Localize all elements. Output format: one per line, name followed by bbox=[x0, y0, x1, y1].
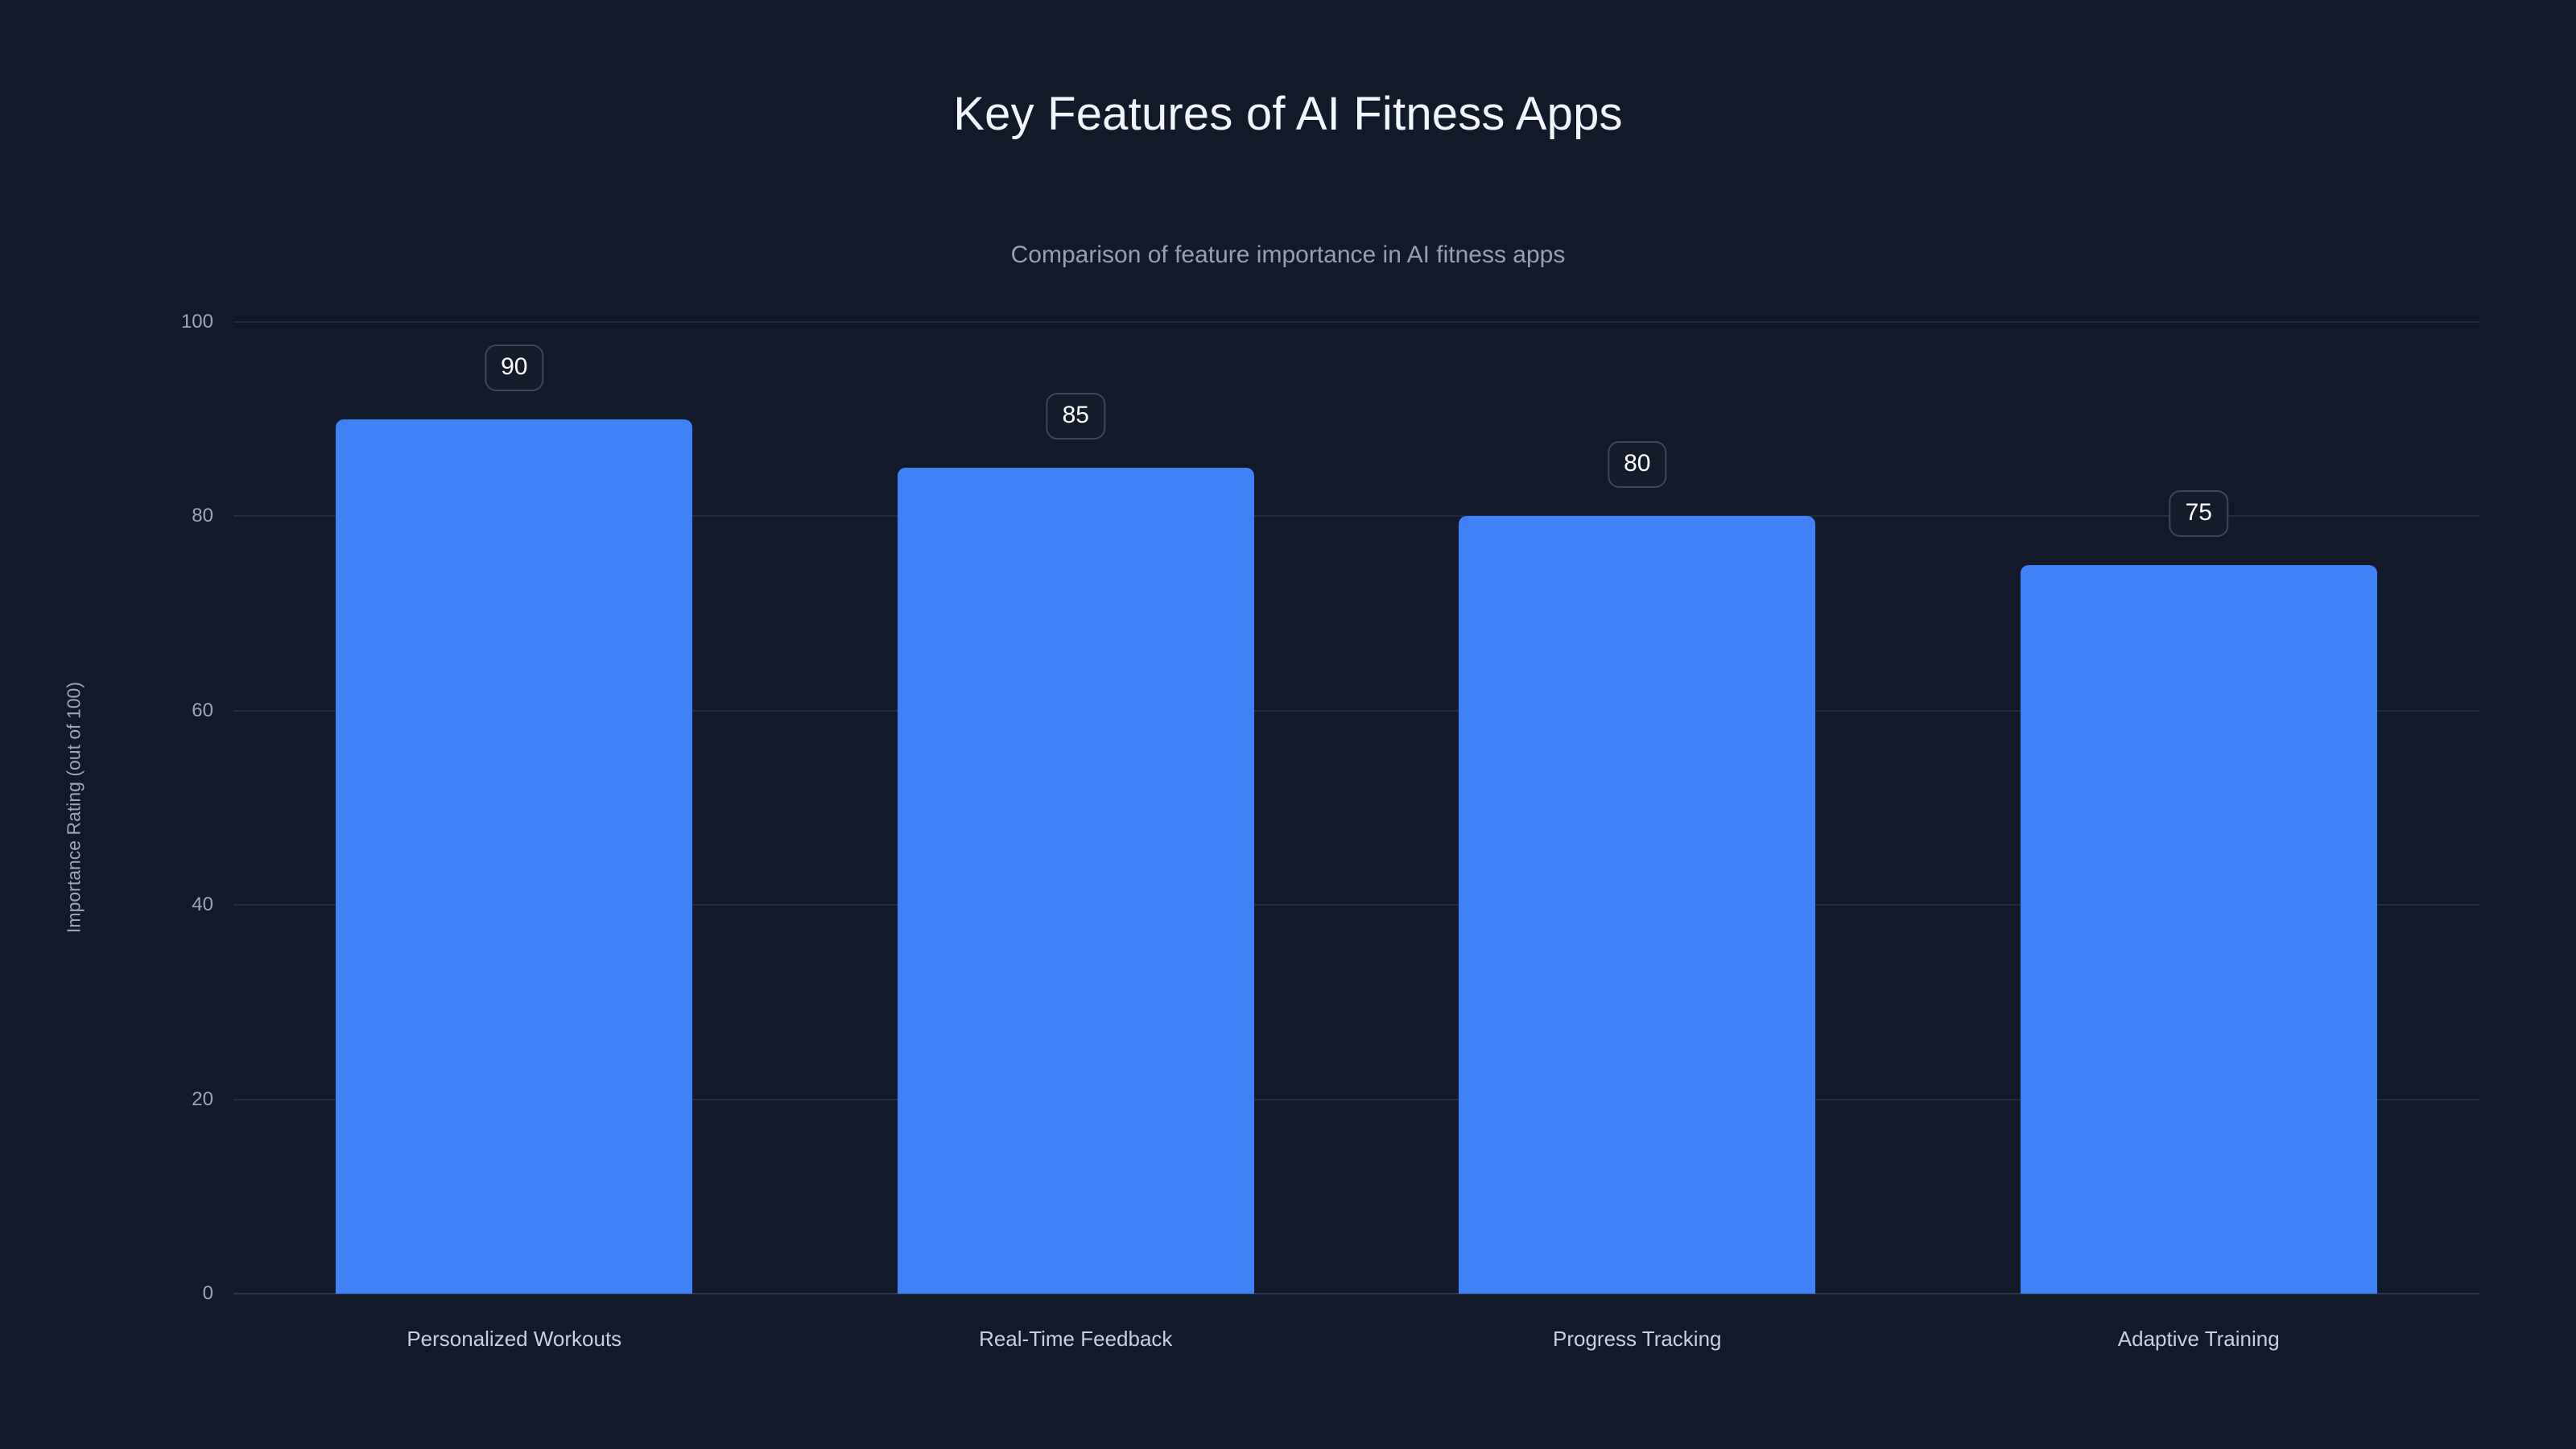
x-axis-category-label: Progress Tracking bbox=[1553, 1327, 1722, 1352]
y-axis-tick-label: 20 bbox=[117, 1088, 213, 1111]
y-axis-tick-label: 100 bbox=[117, 311, 213, 333]
bar[interactable] bbox=[1459, 516, 1815, 1294]
bar[interactable] bbox=[2021, 565, 2377, 1294]
chart-subtitle: Comparison of feature importance in AI f… bbox=[0, 242, 2576, 268]
x-axis-category-label: Adaptive Training bbox=[2118, 1327, 2280, 1352]
bar-chart-figure: Key Features of AI Fitness Apps Comparis… bbox=[0, 0, 2576, 1449]
x-axis-category-label: Personalized Workouts bbox=[407, 1327, 621, 1352]
bar-value-label: 85 bbox=[1046, 393, 1105, 440]
y-axis-tick-label: 60 bbox=[117, 700, 213, 722]
chart-title: Key Features of AI Fitness Apps bbox=[0, 89, 2576, 140]
bar-value-label: 75 bbox=[2169, 490, 2228, 537]
bar-value-label: 90 bbox=[485, 345, 543, 391]
x-axis-category-label: Real-Time Feedback bbox=[979, 1327, 1172, 1352]
y-axis-tick-label: 80 bbox=[117, 505, 213, 527]
y-axis-title: Importance Rating (out of 100) bbox=[64, 682, 85, 933]
y-axis-tick-label: 40 bbox=[117, 894, 213, 916]
y-axis-tick-label: 0 bbox=[117, 1282, 213, 1305]
bar[interactable] bbox=[898, 468, 1254, 1294]
bar[interactable] bbox=[336, 419, 692, 1294]
bar-value-label: 80 bbox=[1608, 441, 1666, 488]
plot-area bbox=[233, 322, 2479, 1294]
gridline bbox=[233, 321, 2479, 323]
